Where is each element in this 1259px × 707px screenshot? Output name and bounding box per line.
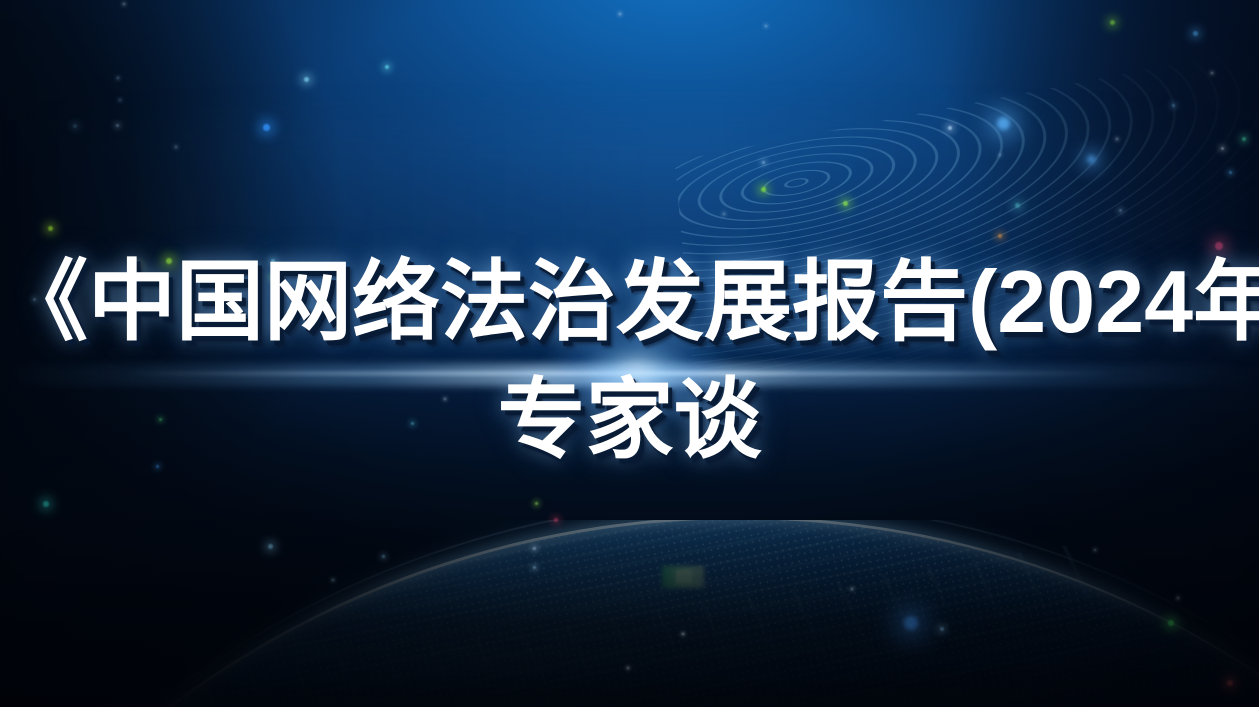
background-vignette [0,0,1259,707]
poster-canvas: 《中国网络法治发展报告(2024年)》 专家谈 [0,0,1259,707]
